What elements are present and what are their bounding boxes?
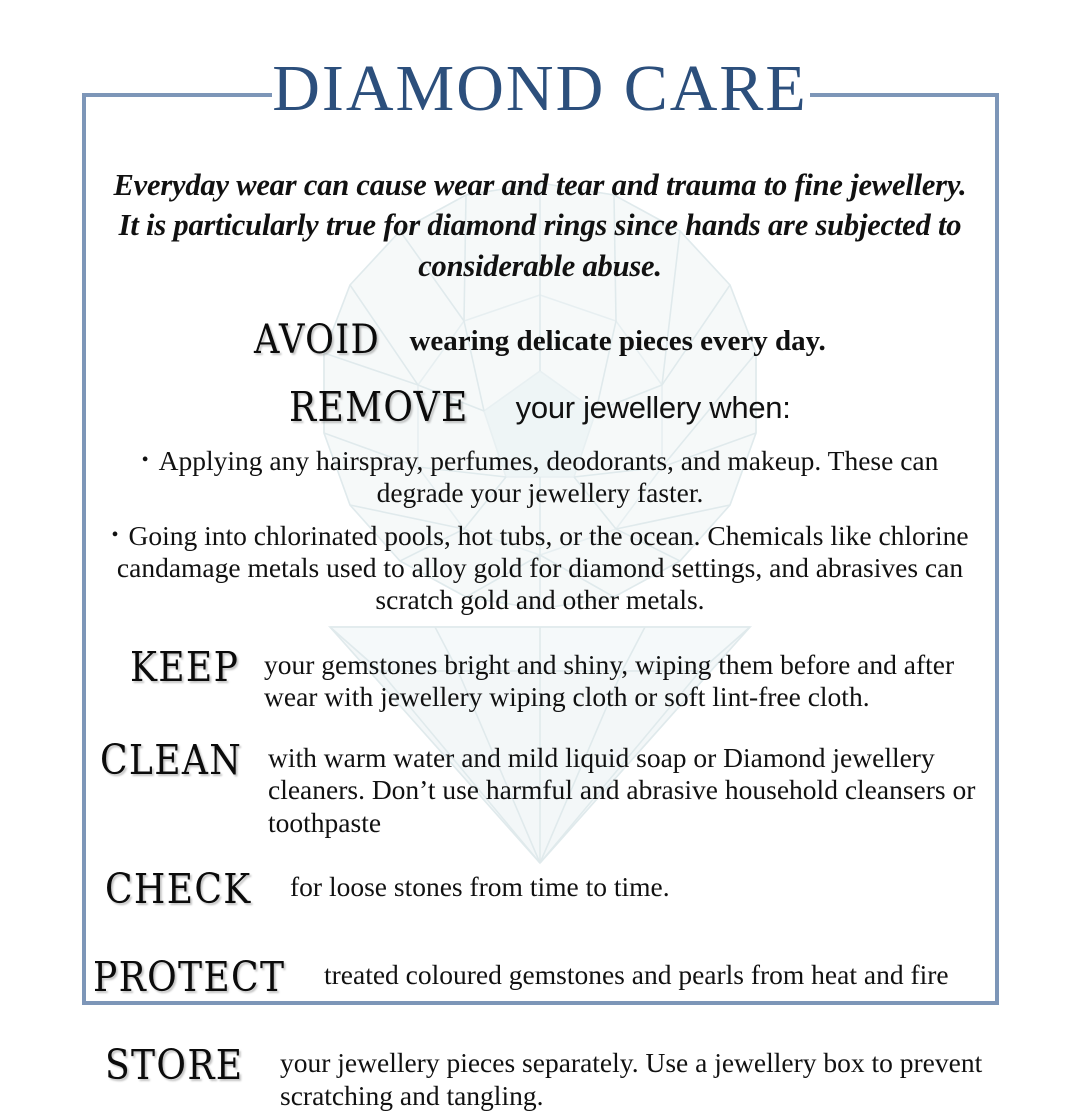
remove-keyword: REMOVE bbox=[289, 383, 469, 431]
section-keep: KEEP your gemstones bright and shiny, wi… bbox=[86, 641, 994, 714]
check-text: for loose stones from time to time. bbox=[272, 863, 994, 903]
check-keyword: CHECK bbox=[105, 865, 252, 913]
frame-border-right bbox=[995, 93, 999, 1005]
section-store-keyword-cell: STORE bbox=[86, 1039, 262, 1089]
list-item-text: Going into chlorinated pools, hot tubs, … bbox=[117, 520, 969, 616]
keep-keyword: KEEP bbox=[130, 643, 239, 691]
protect-text: treated coloured gemstones and pearls fr… bbox=[312, 951, 994, 991]
content-body: Everyday wear can cause wear and tear an… bbox=[86, 134, 994, 1112]
section-store: STORE your jewellery pieces separately. … bbox=[86, 1039, 994, 1112]
avoid-line: AVOIDwearing delicate pieces every day. bbox=[86, 317, 994, 363]
section-keep-keyword-cell: KEEP bbox=[86, 641, 254, 691]
remove-text: your jewellery when: bbox=[516, 390, 791, 425]
avoid-keyword: AVOID bbox=[254, 317, 380, 363]
section-clean-keyword-cell: CLEAN bbox=[86, 734, 262, 784]
bullet-dot-icon: • bbox=[111, 524, 118, 546]
clean-text: with warm water and mild liquid soap or … bbox=[262, 734, 994, 839]
section-check: CHECK for loose stones from time to time… bbox=[86, 863, 994, 913]
keep-text: your gemstones bright and shiny, wiping … bbox=[254, 641, 994, 714]
remove-line: REMOVEyour jewellery when: bbox=[86, 383, 994, 431]
protect-keyword: PROTECT bbox=[93, 953, 285, 1001]
page-title: DIAMOND CARE bbox=[0, 56, 1080, 122]
avoid-text: wearing delicate pieces every day. bbox=[409, 325, 825, 357]
bullet-dot-icon: • bbox=[142, 449, 149, 471]
remove-bullet-list: •Applying any hairspray, perfumes, deodo… bbox=[86, 445, 994, 617]
section-protect-keyword-cell: PROTECT bbox=[86, 951, 312, 1001]
store-keyword: STORE bbox=[105, 1041, 243, 1089]
section-protect: PROTECT treated coloured gemstones and p… bbox=[86, 951, 994, 1001]
section-clean: CLEAN with warm water and mild liquid so… bbox=[86, 734, 994, 839]
clean-keyword: CLEAN bbox=[100, 736, 242, 784]
intro-paragraph: Everyday wear can cause wear and tear an… bbox=[86, 165, 994, 287]
list-item-text: Applying any hairspray, perfumes, deodor… bbox=[159, 445, 939, 508]
diamond-care-poster: DIAMOND CARE Everyday wear can cause wea… bbox=[0, 0, 1080, 1080]
list-item: •Going into chlorinated pools, hot tubs,… bbox=[86, 520, 994, 617]
list-item: •Applying any hairspray, perfumes, deodo… bbox=[86, 445, 994, 510]
store-text: your jewellery pieces separately. Use a … bbox=[262, 1039, 994, 1112]
section-check-keyword-cell: CHECK bbox=[86, 863, 272, 913]
